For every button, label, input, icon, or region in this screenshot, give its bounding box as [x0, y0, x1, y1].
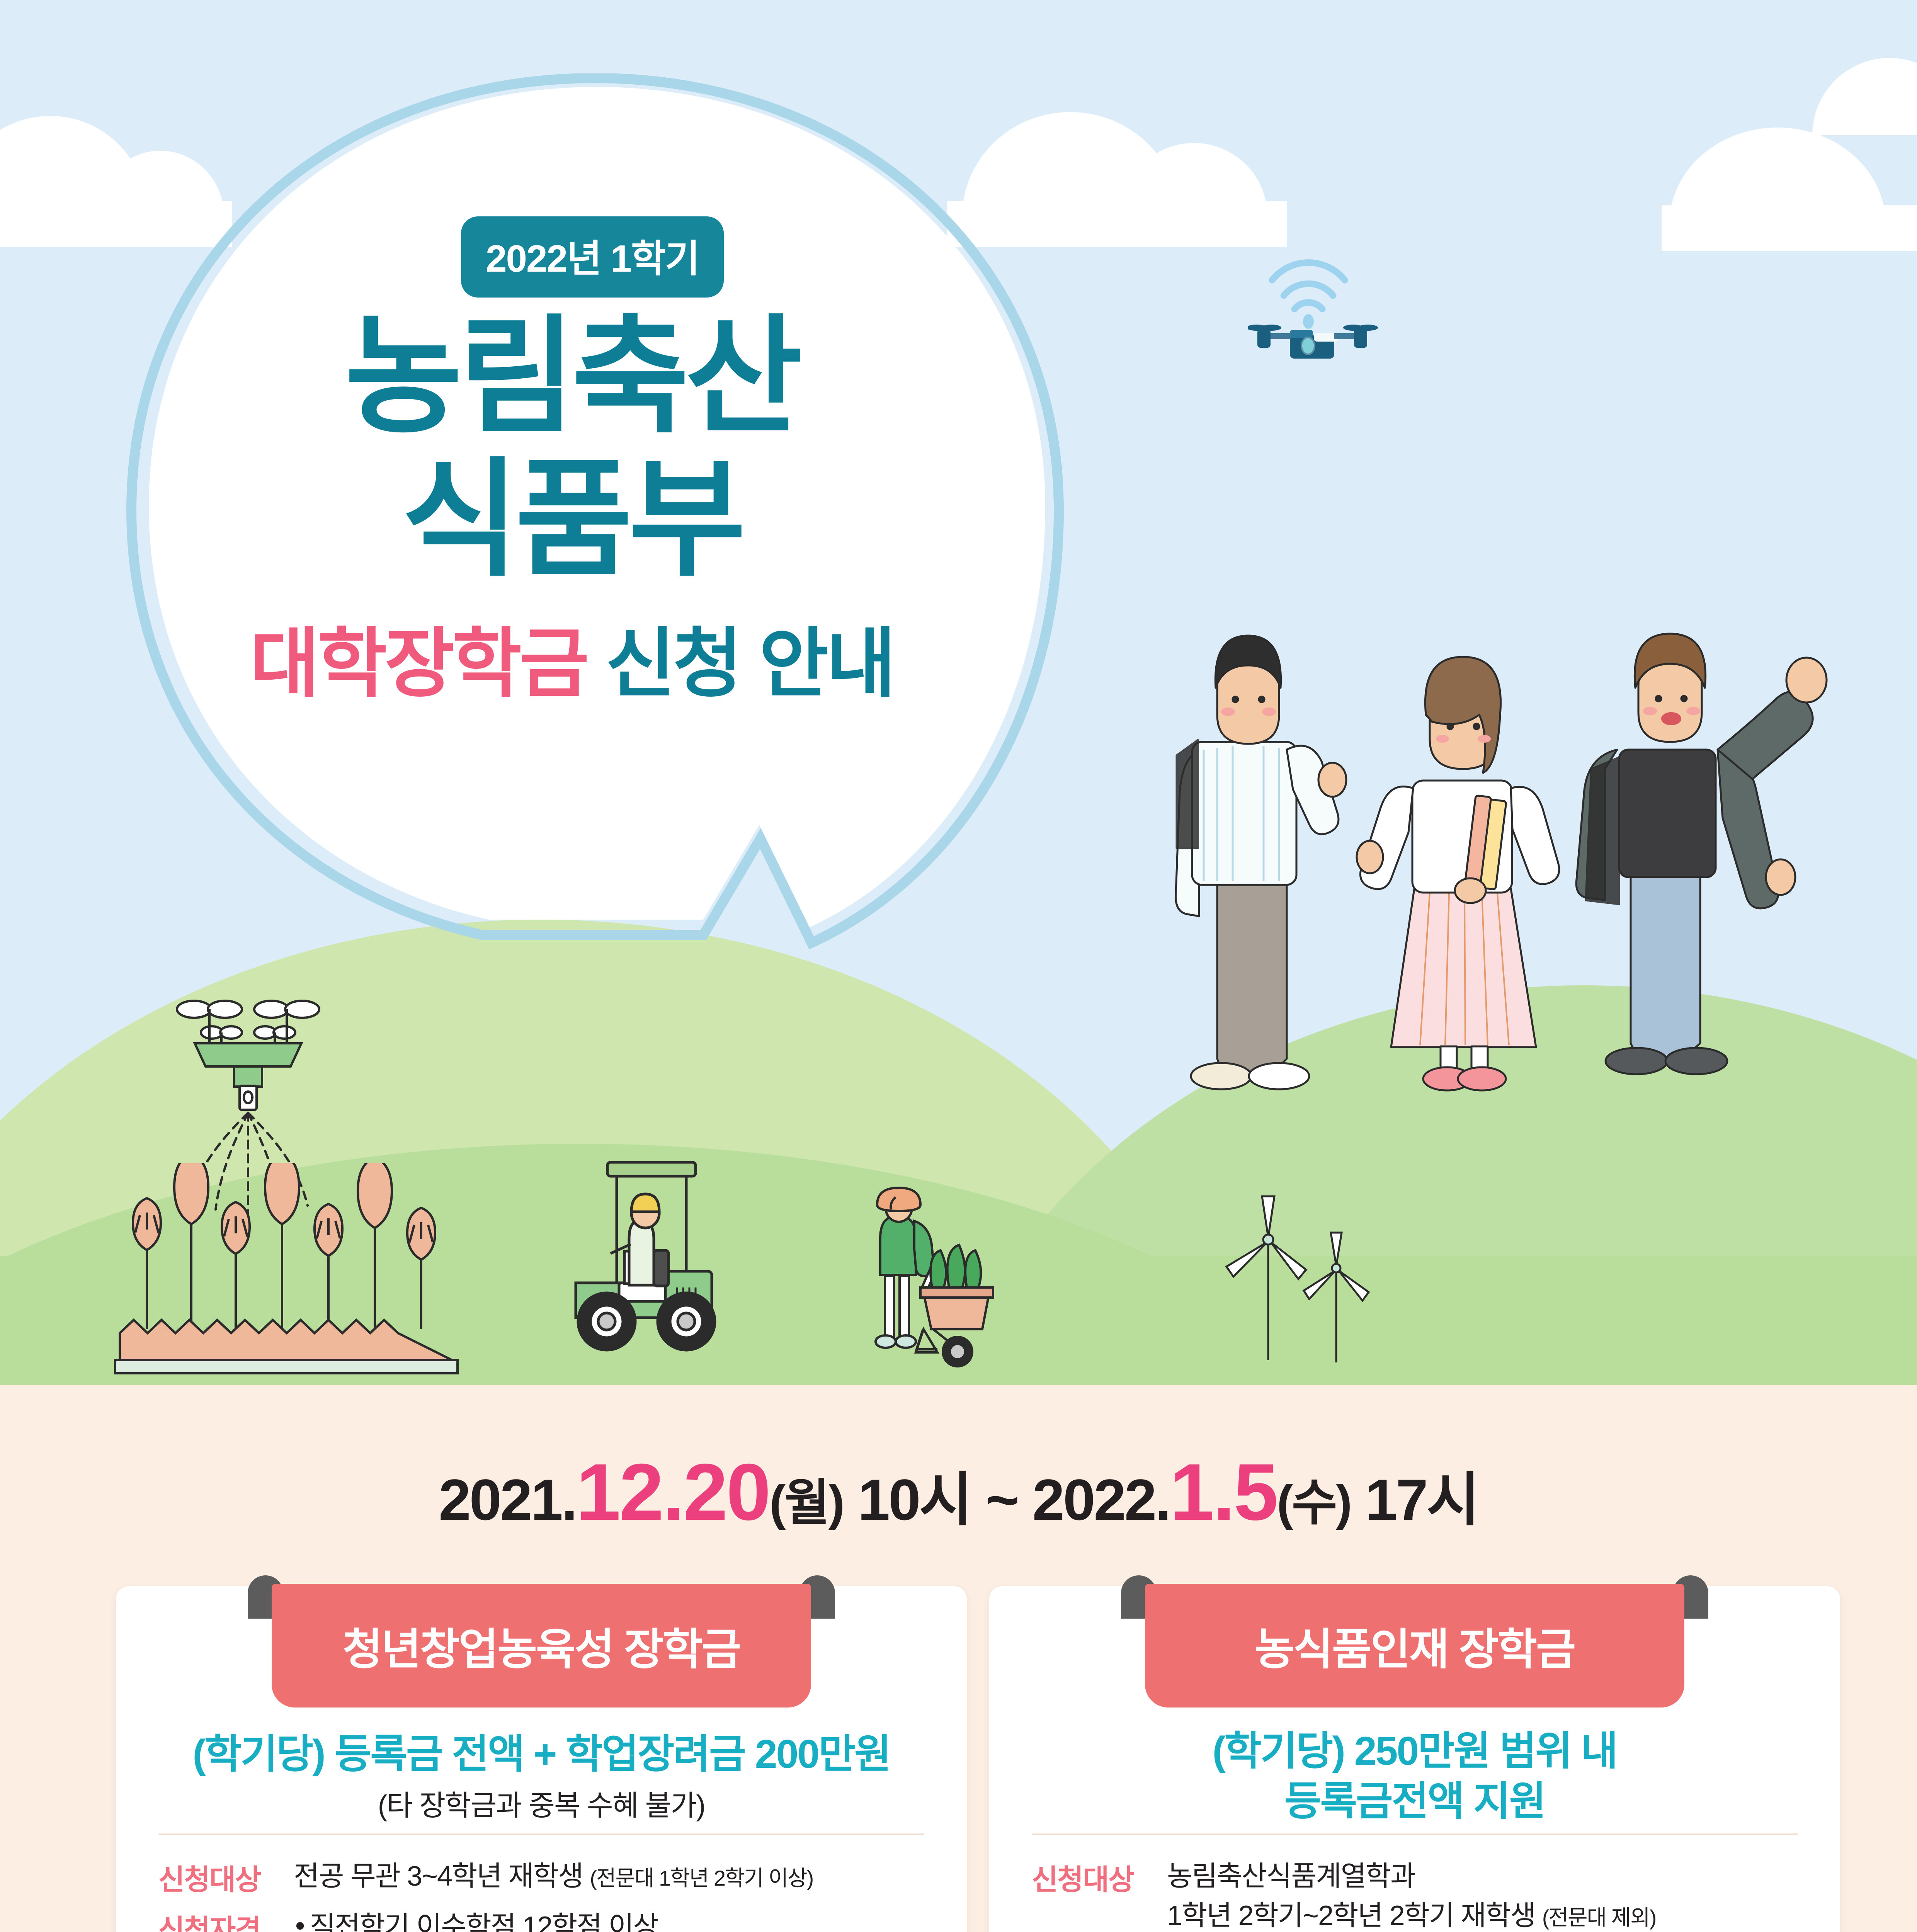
scholarship-name: 청년창업농육성 장학금	[343, 1614, 740, 1677]
lower-info-section: 2021.12.20(월) 10시 ~ 2022.1.5(수) 17시 청년창업…	[0, 1385, 1917, 1932]
poster-title: 농림축산 식품부 대학장학금 신청 안내	[0, 305, 1144, 712]
period-end-date: 1.5	[1170, 1447, 1277, 1537]
title-line-2: 식품부	[0, 448, 1144, 591]
row-note: (전문대 1학년 2학기 이상)	[590, 1866, 813, 1890]
row-text-2: 1학년 2학기~2학년 2학기 재학생 (전문대 제외)	[1167, 1896, 1656, 1932]
period-start-year: 2021.	[439, 1467, 576, 1532]
period-end-day: (수)	[1277, 1475, 1351, 1531]
row-label: 신청자격	[158, 1907, 294, 1932]
row-body: 직전학기 이수학점 12학점 이상 성적 70점 이상인 만 40세 미만인 자	[294, 1907, 708, 1932]
period-start-day: (월)	[769, 1475, 843, 1531]
row-label: 신청대상	[158, 1857, 294, 1898]
cloud-icon	[1812, 58, 1917, 135]
scholarship-card-youth: 청년창업농육성 장학금 (학기당) 등록금 전액 + 학업장려금 200만원 (…	[116, 1586, 967, 1932]
bullet-item: 직전학기 이수학점 12학점 이상	[294, 1907, 708, 1932]
title-rest: 신청 안내	[587, 621, 894, 706]
row-label: 신청대상	[1032, 1857, 1167, 1932]
row-text: 농림축산식품계열학과	[1167, 1857, 1656, 1896]
amount-note: (타 장학금과 중복 수혜 불가)	[116, 1782, 967, 1824]
card-divider	[158, 1833, 924, 1835]
period-separator: ~	[985, 1467, 1032, 1532]
title-line-3: 대학장학금 신청 안내	[0, 602, 1144, 712]
row-target: 신청대상 전공 무관 3~4학년 재학생 (전문대 1학년 2학기 이상)	[158, 1857, 813, 1898]
row-body: 농림축산식품계열학과 1학년 2학기~2학년 2학기 재학생 (전문대 제외)	[1167, 1857, 1656, 1932]
cloud-base	[1662, 205, 1917, 251]
row-text-line2: 1학년 2학기~2학년 2학기 재학생	[1167, 1900, 1535, 1931]
tractor-icon	[549, 1155, 750, 1364]
period-end-year: 2022.	[1032, 1467, 1170, 1532]
ribbon-body: 청년창업농육성 장학금	[272, 1584, 811, 1708]
title-highlight: 대학장학금	[250, 621, 587, 706]
scholarship-name: 농식품인재 장학금	[1255, 1614, 1575, 1677]
period-end-time: 17시	[1351, 1467, 1478, 1532]
card-ribbon: 농식품인재 장학금	[1121, 1575, 1708, 1711]
title-line-1: 농림축산	[0, 305, 1144, 448]
wind-turbine-icon	[1209, 1194, 1387, 1379]
ribbon-body: 농식품인재 장학금	[1145, 1584, 1684, 1708]
scholarship-card-agrifood: 농식품인재 장학금 (학기당) 250만원 범위 내 등록금전액 지원 신청대상…	[989, 1586, 1840, 1932]
semester-badge: 2022년 1학기	[461, 216, 724, 298]
period-start-date: 12.20	[576, 1447, 770, 1537]
row-body: 전공 무관 3~4학년 재학생 (전문대 1학년 2학기 이상)	[294, 1857, 813, 1898]
amount-main-2: 등록금전액 지원	[989, 1776, 1840, 1827]
row-qualification: 신청자격 직전학기 이수학점 12학점 이상 성적 70점 이상인 만 40세 …	[158, 1907, 708, 1932]
row-target: 신청대상 농림축산식품계열학과 1학년 2학기~2학년 2학기 재학생 (전문대…	[1032, 1857, 1656, 1932]
amount-main: (학기당) 등록금 전액 + 학업장려금 200만원	[116, 1729, 967, 1779]
card-ribbon: 청년창업농육성 장학금	[248, 1575, 835, 1711]
row-text: 전공 무관 3~4학년 재학생	[294, 1861, 583, 1892]
row-note: (전문대 제외)	[1542, 1905, 1656, 1930]
period-start-time: 10시	[843, 1467, 985, 1532]
farmer-wheelbarrow-icon	[862, 1182, 1063, 1376]
card-divider	[1032, 1833, 1798, 1835]
application-period: 2021.12.20(월) 10시 ~ 2022.1.5(수) 17시	[0, 1453, 1917, 1537]
wheat-field-icon	[112, 1163, 498, 1379]
amount-main: (학기당) 250만원 범위 내	[989, 1726, 1840, 1776]
hero-illustration: 2022년 1학기 농림축산 식품부 대학장학금 신청 안내	[0, 0, 1917, 1385]
students-illustration	[1121, 456, 1878, 1221]
drone-icon	[1248, 232, 1410, 359]
